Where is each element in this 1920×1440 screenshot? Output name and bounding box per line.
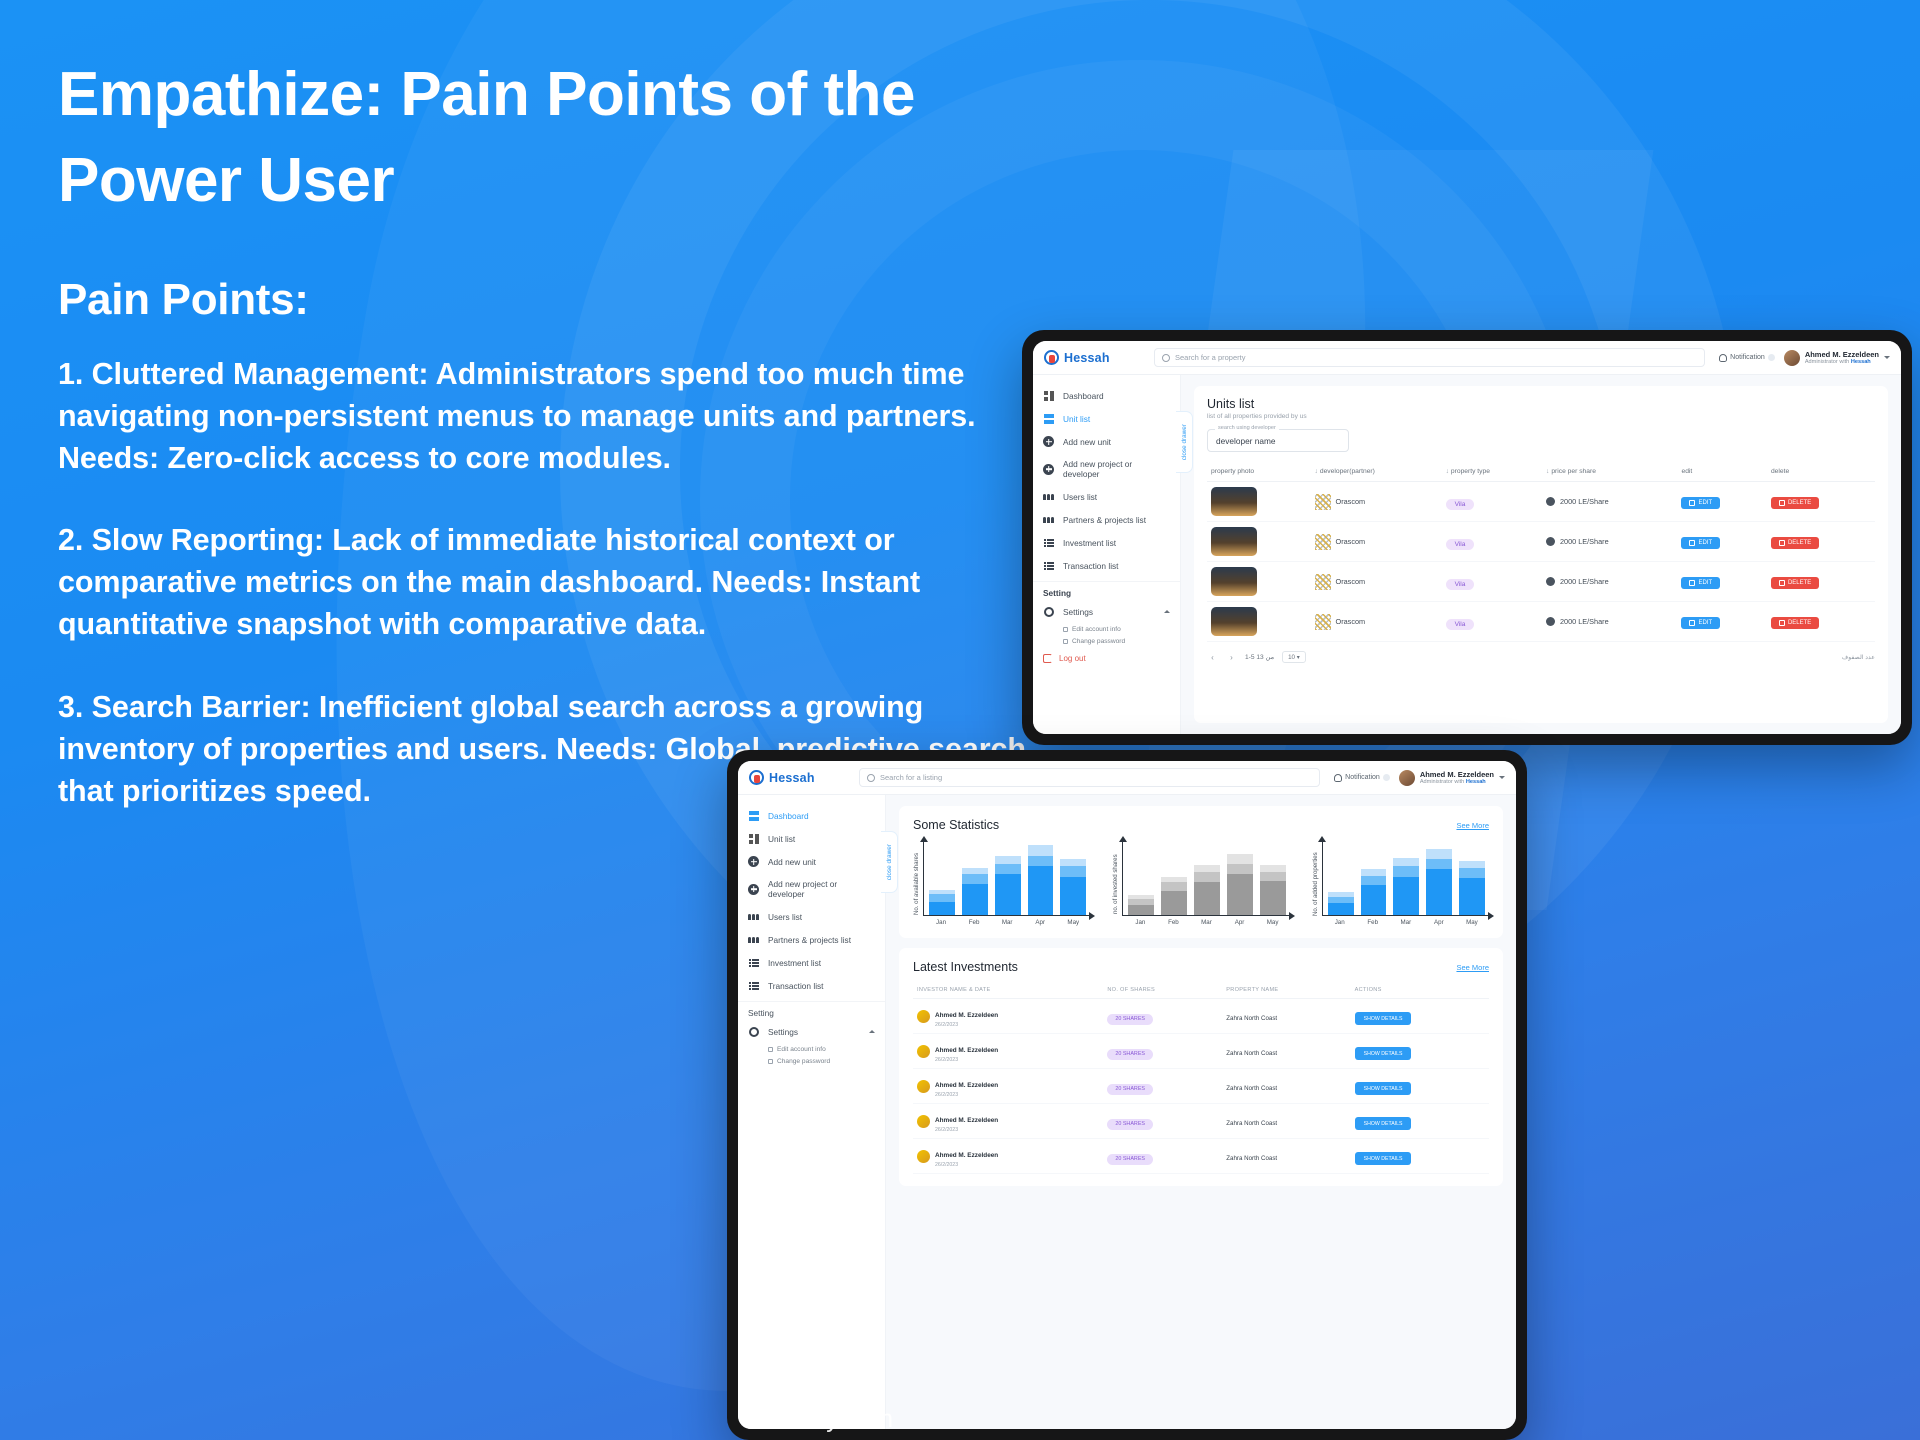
settings-sub-change-password[interactable]: Change password xyxy=(1033,635,1180,647)
pencil-icon xyxy=(1689,540,1695,546)
developer-search-input[interactable]: search using developer developer name xyxy=(1207,429,1349,452)
partners-icon xyxy=(748,934,759,945)
user-role-brand: Hessah xyxy=(1466,779,1486,785)
sidebar-item-users-list[interactable]: Users list xyxy=(1033,485,1180,508)
property-name: Zahra North Coast xyxy=(1226,1050,1277,1057)
bar-segment-top xyxy=(995,856,1021,864)
cell-type: Vila xyxy=(1442,562,1542,602)
user-meta: Ahmed M. Ezzeldeen Administrator with He… xyxy=(1420,770,1494,786)
bar-Jan xyxy=(1128,895,1154,915)
edit-button[interactable]: EDIT xyxy=(1681,617,1720,629)
cell-edit: EDIT xyxy=(1677,562,1766,602)
shares-badge: 20 SHARES xyxy=(1107,1119,1153,1130)
sidebar-item-add-new-project[interactable]: Add new project or developer xyxy=(1033,453,1180,485)
avatar xyxy=(1784,350,1800,366)
col-developer[interactable]: ↓developer(partner) xyxy=(1311,462,1442,482)
bar-segment-top xyxy=(1028,845,1054,855)
app-body: Dashboard Unit list Add new unit Add new… xyxy=(1033,375,1901,734)
bar-segment-mid xyxy=(1426,859,1452,869)
settings-sub-label: Edit account info xyxy=(1072,626,1121,633)
brand-name: Hessah xyxy=(1064,351,1110,365)
pagination-range: 1-5 من 13 xyxy=(1245,653,1274,661)
investments-card: Latest Investments See More INVESTOR NAM… xyxy=(899,948,1503,1186)
sidebar-item-label: Add new project or developer xyxy=(768,879,875,899)
bar-segment-base xyxy=(1459,878,1485,915)
coin-icon xyxy=(1546,497,1555,506)
notification-button[interactable]: Notification xyxy=(1334,774,1390,782)
bar-segment-top xyxy=(1227,854,1253,864)
header-right: Notification Ahmed M. Ezzeldeen Administ… xyxy=(1334,770,1505,786)
building-icon xyxy=(1043,413,1054,424)
bar-Apr xyxy=(1028,845,1054,915)
close-drawer-toggle[interactable]: close drawer xyxy=(1176,411,1193,473)
cell-action: SHOW DETAILS xyxy=(1351,999,1489,1034)
settings-sub-change-password[interactable]: Change password xyxy=(738,1055,885,1067)
shares-badge: 20 SHARES xyxy=(1107,1084,1153,1095)
bar-segment-base xyxy=(1227,874,1253,915)
cell-photo xyxy=(1207,522,1311,562)
cell-investor: Ahmed M. Ezzeldeen26/2/2023 xyxy=(913,1139,1103,1174)
bar-segment-top xyxy=(1194,865,1220,872)
watermark: نافذتي nafezly.com xyxy=(690,1363,960,1434)
sidebar-item-label: Transaction list xyxy=(1063,561,1119,571)
developer-logo-icon xyxy=(1315,494,1331,510)
bar-segment-top xyxy=(1361,869,1387,876)
search-icon xyxy=(1162,354,1170,362)
sidebar: Dashboard Unit list Add new unit Add new… xyxy=(1033,375,1181,734)
investor-name: Ahmed M. Ezzeldeen xyxy=(935,1152,998,1159)
sidebar-item-transaction-list[interactable]: Transaction list xyxy=(1033,554,1180,577)
key-icon xyxy=(768,1059,773,1064)
sidebar-item-unit-list[interactable]: Unit list xyxy=(1033,407,1180,430)
investments-title: Latest Investments xyxy=(913,960,1018,974)
bar-segment-base xyxy=(995,874,1021,915)
bar-Apr xyxy=(1426,849,1452,915)
pagination-note: عدد الصفوف xyxy=(1842,654,1875,661)
cell-investor: Ahmed M. Ezzeldeen26/2/2023 xyxy=(913,1104,1103,1139)
users-icon xyxy=(1043,491,1054,502)
building-icon xyxy=(748,833,759,844)
sidebar-item-partners-projects[interactable]: Partners & projects list xyxy=(1033,508,1180,531)
statistics-charts: No. of available sharesJanFebMarAprMayno… xyxy=(913,842,1489,926)
x-axis: JanFebMarAprMay xyxy=(1122,916,1289,926)
show-details-button[interactable]: SHOW DETAILS xyxy=(1355,1117,1412,1130)
bar-segment-mid xyxy=(1161,882,1187,891)
logout-icon xyxy=(1043,654,1052,663)
list-item: Ahmed M. Ezzeldeen26/2/202320 SHARESZahr… xyxy=(913,1034,1489,1069)
x-tick-Jan: Jan xyxy=(1327,919,1353,926)
notification-label: Notification xyxy=(1730,354,1765,361)
sidebar-item-label: Add new project or developer xyxy=(1063,459,1170,479)
developer-logo-icon xyxy=(1315,574,1331,590)
bar-segment-top xyxy=(1260,865,1286,872)
search-placeholder: Search for a listing xyxy=(880,773,942,782)
notification-label: Notification xyxy=(1345,774,1380,781)
page-title: Empathize: Pain Points of the Power User xyxy=(58,52,1078,223)
plus-circle-icon xyxy=(748,884,759,895)
bar-segment-base xyxy=(1361,885,1387,915)
prev-page-button[interactable]: ‹ xyxy=(1207,652,1218,663)
sidebar-item-dashboard[interactable]: Dashboard xyxy=(738,804,885,827)
sidebar-item-add-new-project[interactable]: Add new project or developer xyxy=(738,873,885,905)
sidebar-item-label: Partners & projects list xyxy=(768,935,851,945)
property-photo xyxy=(1211,527,1257,556)
investment-date: 26/2/2023 xyxy=(935,1022,998,1028)
user-menu[interactable]: Ahmed M. Ezzeldeen Administrator with He… xyxy=(1399,770,1505,786)
developer-search-value: developer name xyxy=(1216,436,1276,446)
property-photo xyxy=(1211,607,1257,636)
bar-segment-base xyxy=(1426,869,1452,915)
sidebar-item-partners-projects[interactable]: Partners & projects list xyxy=(738,928,885,951)
investment-date: 26/2/2023 xyxy=(935,1057,998,1063)
cell-price: 2000 LE/Share xyxy=(1542,602,1678,642)
statistics-title: Some Statistics xyxy=(913,818,999,832)
bar-segment-mid xyxy=(962,874,988,884)
sidebar-item-investment-list[interactable]: Investment list xyxy=(1033,531,1180,554)
cell-price: 2000 LE/Share xyxy=(1542,482,1678,522)
sidebar-item-label: Add new unit xyxy=(1063,437,1111,447)
plus-circle-icon xyxy=(748,856,759,867)
list-item: Ahmed M. Ezzeldeen26/2/202320 SHARESZahr… xyxy=(913,1139,1489,1174)
bar-segment-base xyxy=(1194,882,1220,915)
edit-button[interactable]: EDIT xyxy=(1681,537,1720,549)
cell-investor: Ahmed M. Ezzeldeen26/2/2023 xyxy=(913,999,1103,1034)
developer-name: Orascom xyxy=(1336,577,1366,586)
hessah-logo-icon xyxy=(749,770,764,785)
price-value: 2000 LE/Share xyxy=(1560,617,1609,626)
cell-price: 2000 LE/Share xyxy=(1542,562,1678,602)
col-delete: delete xyxy=(1767,462,1875,482)
cell-property: Zahra North Coast xyxy=(1222,1104,1350,1139)
bar-segment-base xyxy=(1128,905,1154,915)
units-main: Units list list of all properties provid… xyxy=(1181,375,1901,734)
show-details-button[interactable]: SHOW DETAILS xyxy=(1355,1152,1412,1165)
cell-price: 2000 LE/Share xyxy=(1542,522,1678,562)
settings-sub-edit-account[interactable]: Edit account info xyxy=(1033,623,1180,635)
tablet-units-list: Hessah Search for a property Notificatio… xyxy=(1022,330,1912,745)
search-placeholder: Search for a property xyxy=(1175,353,1245,362)
table-row: OrascomVila2000 LE/ShareEDITDELETE xyxy=(1207,522,1875,562)
dashboard-app-screen: Hessah Search for a listing Notification… xyxy=(738,761,1516,1429)
units-table: property photo ↓developer(partner) ↓prop… xyxy=(1207,462,1875,642)
x-tick-Jan: Jan xyxy=(1127,919,1153,926)
page-size-select[interactable]: 10 ▾ xyxy=(1282,651,1306,663)
sidebar-item-unit-list[interactable]: Unit list xyxy=(738,827,885,850)
price-value: 2000 LE/Share xyxy=(1560,537,1609,546)
app-header-dashboard: Hessah Search for a listing Notification… xyxy=(738,761,1516,795)
plot-area xyxy=(1122,842,1289,916)
cell-property: Zahra North Coast xyxy=(1222,1069,1350,1104)
bar-chart-3: No. of added propertiesJanFebMarAprMay xyxy=(1312,842,1489,926)
chevron-down-icon xyxy=(1884,356,1890,359)
sidebar-item-label: Investment list xyxy=(1063,538,1116,548)
cell-action: SHOW DETAILS xyxy=(1351,1069,1489,1104)
x-tick-Apr: Apr xyxy=(1027,919,1053,926)
edit-icon xyxy=(1063,627,1068,632)
cell-shares: 20 SHARES xyxy=(1103,999,1222,1034)
cell-action: SHOW DETAILS xyxy=(1351,1034,1489,1069)
user-name: Ahmed M. Ezzeldeen xyxy=(1805,350,1879,359)
bar-segment-mid xyxy=(1328,897,1354,904)
bar-segment-mid xyxy=(995,864,1021,874)
sidebar-item-label: Unit list xyxy=(768,834,795,844)
delete-button[interactable]: DELETE xyxy=(1771,617,1819,629)
shares-badge: 20 SHARES xyxy=(1107,1154,1153,1165)
search-input[interactable]: Search for a property xyxy=(1154,348,1705,367)
investment-date: 26/2/2023 xyxy=(935,1162,998,1168)
settings-row[interactable]: Settings xyxy=(738,1024,885,1043)
table-row: OrascomVila2000 LE/ShareEDITDELETE xyxy=(1207,482,1875,522)
statistics-header: Some Statistics See More xyxy=(913,818,1489,832)
property-name: Zahra North Coast xyxy=(1226,1085,1277,1092)
bar-segment-mid xyxy=(1361,876,1387,886)
shares-badge: 20 SHARES xyxy=(1107,1014,1153,1025)
coin-icon xyxy=(1546,617,1555,626)
price-value: 2000 LE/Share xyxy=(1560,577,1609,586)
plus-circle-icon xyxy=(1043,464,1054,475)
bar-segment-mid xyxy=(1194,872,1220,882)
bar-segment-base xyxy=(1328,903,1354,915)
cell-type: Vila xyxy=(1442,482,1542,522)
investments-see-more-link[interactable]: See More xyxy=(1456,963,1489,972)
bar-segment-top xyxy=(1393,858,1419,866)
sidebar-item-investment-list[interactable]: Investment list xyxy=(738,951,885,974)
bell-icon xyxy=(1719,354,1727,362)
delete-button[interactable]: DELETE xyxy=(1771,577,1819,589)
bar-Mar xyxy=(1393,858,1419,915)
bar-segment-mid xyxy=(1227,864,1253,874)
grid-icon xyxy=(1043,390,1054,401)
show-details-button[interactable]: SHOW DETAILS xyxy=(1355,1082,1412,1095)
property-name: Zahra North Coast xyxy=(1226,1120,1277,1127)
sidebar-item-label: Dashboard xyxy=(1063,391,1104,401)
x-tick-Feb: Feb xyxy=(961,919,987,926)
bar-segment-base xyxy=(962,884,988,915)
cell-shares: 20 SHARES xyxy=(1103,1034,1222,1069)
brand-logo: Hessah xyxy=(1044,350,1140,365)
developer-logo-icon xyxy=(1315,534,1331,550)
edit-button[interactable]: EDIT xyxy=(1681,577,1720,589)
bar-segment-mid xyxy=(1028,856,1054,866)
y-axis-label: No. of available shares xyxy=(913,842,920,926)
cell-developer: Orascom xyxy=(1311,562,1442,602)
plot-area xyxy=(1322,842,1489,916)
bar-May xyxy=(1260,865,1286,915)
investor-name: Ahmed M. Ezzeldeen xyxy=(935,1117,998,1124)
show-details-button[interactable]: SHOW DETAILS xyxy=(1355,1047,1412,1060)
notification-button[interactable]: Notification xyxy=(1719,354,1775,362)
settings-sub-label: Change password xyxy=(777,1058,830,1065)
units-panel: Units list list of all properties provid… xyxy=(1194,386,1888,723)
property-type-badge: Vila xyxy=(1446,539,1475,550)
bar-segment-base xyxy=(1028,866,1054,915)
sidebar-item-transaction-list[interactable]: Transaction list xyxy=(738,974,885,997)
app-body-dashboard: Dashboard Unit list Add new unit Add new… xyxy=(738,795,1516,1429)
user-role-prefix: Administrator with xyxy=(1805,359,1849,365)
bar-Mar xyxy=(1194,865,1220,915)
partners-icon xyxy=(1043,514,1054,525)
delete-button[interactable]: DELETE xyxy=(1771,537,1819,549)
sidebar-item-dashboard[interactable]: Dashboard xyxy=(1033,384,1180,407)
pencil-icon xyxy=(1689,500,1695,506)
y-axis-label: No. of added properties xyxy=(1312,842,1319,926)
units-app-screen: Hessah Search for a property Notificatio… xyxy=(1033,341,1901,734)
cell-delete: DELETE xyxy=(1767,562,1875,602)
users-icon xyxy=(748,911,759,922)
hessah-logo-icon xyxy=(1044,350,1059,365)
bar-Feb xyxy=(1161,877,1187,915)
settings-label: Settings xyxy=(1063,607,1093,617)
units-table-header: property photo ↓developer(partner) ↓prop… xyxy=(1207,462,1875,482)
edit-icon xyxy=(768,1047,773,1052)
developer-name: Orascom xyxy=(1336,537,1366,546)
coin-icon xyxy=(1546,577,1555,586)
logout-button[interactable]: Log out xyxy=(1033,647,1180,670)
drawer-label: close drawer xyxy=(886,844,893,880)
section-heading: Pain Points: xyxy=(58,275,1080,325)
investor-name: Ahmed M. Ezzeldeen xyxy=(935,1082,998,1089)
investor-name: Ahmed M. Ezzeldeen xyxy=(935,1047,998,1054)
units-title: Units list xyxy=(1207,397,1875,411)
user-meta: Ahmed M. Ezzeldeen Administrator with He… xyxy=(1805,350,1879,366)
investments-header: Latest Investments See More xyxy=(913,960,1489,974)
property-type-badge: Vila xyxy=(1446,579,1475,590)
cell-type: Vila xyxy=(1442,522,1542,562)
user-role-prefix: Administrator with xyxy=(1420,779,1464,785)
settings-row[interactable]: Settings xyxy=(1033,604,1180,623)
x-axis: JanFebMarAprMay xyxy=(923,916,1090,926)
tablet-dashboard: Hessah Search for a listing Notification… xyxy=(727,750,1527,1440)
sidebar-item-add-new-unit[interactable]: Add new unit xyxy=(1033,430,1180,453)
pagination: ‹ › 1-5 من 13 10 ▾ عدد الصفوف xyxy=(1207,651,1875,663)
property-photo xyxy=(1211,567,1257,596)
plus-circle-icon xyxy=(1043,436,1054,447)
search-icon xyxy=(867,774,875,782)
x-tick-Apr: Apr xyxy=(1426,919,1452,926)
user-menu[interactable]: Ahmed M. Ezzeldeen Administrator with He… xyxy=(1784,350,1890,366)
user-role: Administrator with Hessah xyxy=(1420,779,1494,786)
bar-segment-base xyxy=(1161,891,1187,915)
grid-icon xyxy=(748,810,759,821)
settings-label: Settings xyxy=(768,1027,798,1037)
bar-Jan xyxy=(929,890,955,915)
property-name: Zahra North Coast xyxy=(1226,1155,1277,1162)
col-property-type[interactable]: ↓property type xyxy=(1442,462,1542,482)
transaction-icon xyxy=(748,980,759,991)
bar-Apr xyxy=(1227,854,1253,915)
avatar xyxy=(917,1010,930,1023)
close-drawer-toggle[interactable]: close drawer xyxy=(881,831,898,893)
developer-search-legend: search using developer xyxy=(1215,425,1279,431)
investments-table: INVESTOR NAME & DATE NO. OF SHARES PROPE… xyxy=(913,982,1489,1174)
x-tick-May: May xyxy=(1060,919,1086,926)
sidebar-item-users-list[interactable]: Users list xyxy=(738,905,885,928)
coin-icon xyxy=(1546,537,1555,546)
x-tick-Jan: Jan xyxy=(928,919,954,926)
table-row: OrascomVila2000 LE/ShareEDITDELETE xyxy=(1207,562,1875,602)
key-icon xyxy=(1063,639,1068,644)
delete-button[interactable]: DELETE xyxy=(1771,497,1819,509)
units-subtitle: list of all properties provided by us xyxy=(1207,413,1875,420)
drawer-label: close drawer xyxy=(1181,424,1188,460)
avatar xyxy=(917,1150,930,1163)
avatar xyxy=(1399,770,1415,786)
cell-photo xyxy=(1207,602,1311,642)
list-item: Ahmed M. Ezzeldeen26/2/202320 SHARESZahr… xyxy=(913,1069,1489,1104)
cell-property: Zahra North Coast xyxy=(1222,1034,1350,1069)
bar-segment-base xyxy=(929,902,955,915)
show-details-button[interactable]: SHOW DETAILS xyxy=(1355,1012,1412,1025)
notification-badge xyxy=(1383,774,1390,781)
cell-action: SHOW DETAILS xyxy=(1351,1104,1489,1139)
y-axis-label: no. of invested shares xyxy=(1112,842,1119,926)
avatar xyxy=(917,1115,930,1128)
investor-name: Ahmed M. Ezzeldeen xyxy=(935,1012,998,1019)
col-price-per-share[interactable]: ↓price per share xyxy=(1542,462,1678,482)
brand-name: Hessah xyxy=(769,771,815,785)
cell-property: Zahra North Coast xyxy=(1222,999,1350,1034)
list-item: Ahmed M. Ezzeldeen26/2/202320 SHARESZahr… xyxy=(913,999,1489,1034)
cell-type: Vila xyxy=(1442,602,1542,642)
sidebar-item-settings[interactable]: Setting xyxy=(1033,581,1180,604)
sidebar-dashboard: Dashboard Unit list Add new unit Add new… xyxy=(738,795,886,1429)
cell-edit: EDIT xyxy=(1677,602,1766,642)
settings-sub-edit-account[interactable]: Edit account info xyxy=(738,1043,885,1055)
search-input-dashboard[interactable]: Search for a listing xyxy=(859,768,1320,787)
bar-segment-mid xyxy=(929,894,955,901)
sidebar-item-label: Users list xyxy=(768,912,802,922)
price-value: 2000 LE/Share xyxy=(1560,497,1609,506)
bar-segment-base xyxy=(1060,877,1086,915)
brand-logo: Hessah xyxy=(749,770,845,785)
user-role-brand: Hessah xyxy=(1851,359,1871,365)
chevron-up-icon xyxy=(1164,610,1170,613)
x-tick-Feb: Feb xyxy=(1160,919,1186,926)
watermark-latin: nafezly.com xyxy=(690,1405,960,1434)
sidebar-item-add-new-unit[interactable]: Add new unit xyxy=(738,850,885,873)
cell-edit: EDIT xyxy=(1677,482,1766,522)
bar-segment-mid xyxy=(1060,866,1086,876)
bar-Mar xyxy=(995,856,1021,915)
bar-Feb xyxy=(962,868,988,915)
investments-table-header: INVESTOR NAME & DATE NO. OF SHARES PROPE… xyxy=(913,982,1489,999)
x-tick-May: May xyxy=(1459,919,1485,926)
cell-photo xyxy=(1207,482,1311,522)
developer-name: Orascom xyxy=(1336,617,1366,626)
chevron-down-icon xyxy=(1499,776,1505,779)
bar-segment-mid xyxy=(1393,866,1419,876)
bar-Feb xyxy=(1361,869,1387,915)
col-actions: ACTIONS xyxy=(1351,982,1489,999)
header-right: Notification Ahmed M. Ezzeldeen Administ… xyxy=(1719,350,1890,366)
bar-segment-top xyxy=(1426,849,1452,859)
sidebar-item-label: Partners & projects list xyxy=(1063,515,1146,525)
edit-button[interactable]: EDIT xyxy=(1681,497,1720,509)
gear-icon xyxy=(748,1026,759,1037)
bar-segment-base xyxy=(1393,877,1419,915)
pain-point-2: 2. Slow Reporting: Lack of immediate his… xyxy=(58,519,1043,645)
property-type-badge: Vila xyxy=(1446,619,1475,630)
pain-points-list: 1. Cluttered Management: Administrators … xyxy=(58,353,1080,812)
next-page-button[interactable]: › xyxy=(1226,652,1237,663)
app-header: Hessah Search for a property Notificatio… xyxy=(1033,341,1901,375)
list-icon xyxy=(748,957,759,968)
statistics-see-more-link[interactable]: See More xyxy=(1456,821,1489,830)
cell-delete: DELETE xyxy=(1767,602,1875,642)
dashboard-main: Some Statistics See More No. of availabl… xyxy=(886,795,1516,1429)
investment-date: 26/2/2023 xyxy=(935,1092,998,1098)
shares-badge: 20 SHARES xyxy=(1107,1049,1153,1060)
